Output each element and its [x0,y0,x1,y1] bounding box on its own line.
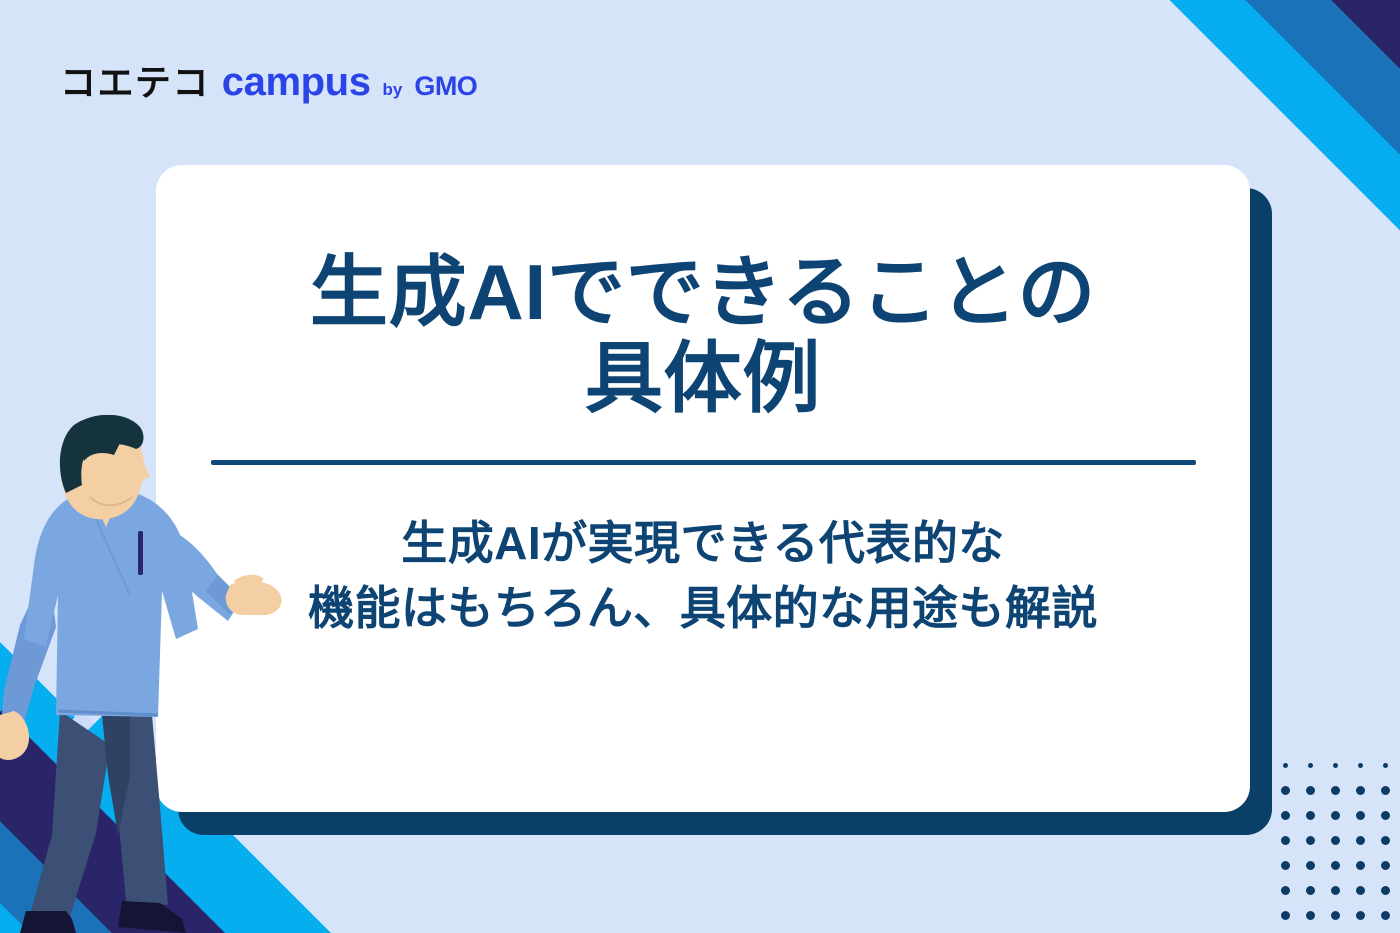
thumbnail-canvas: 生成AIでできることの 具体例 生成AIが実現できる代表的な 機能はもちろん、具… [0,0,1400,933]
subtitle-line-1: 生成AIが実現できる代表的な [196,511,1210,576]
dot-grid-dot [1331,861,1340,870]
dot-grid-dot [1281,811,1290,820]
dot-grid-dot [1356,811,1365,820]
dot-grid-dot [1306,786,1315,795]
dot-grid-dot [1306,861,1315,870]
title-line-2: 具体例 [196,336,1210,422]
dot-grid-dot [1331,911,1340,920]
dot-grid-dot [1333,763,1338,768]
brand-logo-gmo: GMO [414,73,477,100]
character-left-shoe [20,911,76,933]
dot-grid-dot [1281,911,1290,920]
dot-grid-dot [1306,911,1315,920]
dot-grid-dot [1356,886,1365,895]
dot-grid-dot [1356,861,1365,870]
dot-grid-dot [1306,886,1315,895]
brand-logo[interactable]: コエテコ campus by GMO [60,62,477,102]
dot-grid-dot [1283,763,1288,768]
dot-grid-dot [1356,836,1365,845]
dot-grid-dot [1281,786,1290,795]
dot-grid-dot [1331,786,1340,795]
dot-grid-dot [1383,763,1388,768]
character-pen-icon [138,531,143,575]
pointing-presenter-illustration [0,415,290,933]
dot-grid-dot [1331,836,1340,845]
character-shirt [24,491,198,717]
dot-grid-dot [1381,786,1390,795]
dot-grid-dot [1381,861,1390,870]
dot-grid-dot [1381,836,1390,845]
brand-logo-koeteco: コエテコ [60,65,210,101]
dot-grid-dot [1306,811,1315,820]
page-subtitle: 生成AIが実現できる代表的な 機能はもちろん、具体的な用途も解説 [196,511,1210,642]
brand-logo-campus: campus [222,62,371,102]
title-line-1: 生成AIでできることの [196,250,1210,336]
dot-grid-dot [1356,911,1365,920]
character-nose [138,455,150,481]
stripe-cyan-4 [1290,0,1400,418]
dot-grid-dot [1281,836,1290,845]
brand-logo-by: by [383,81,403,98]
dot-grid-dot [1308,763,1313,768]
dot-grid-dot [1381,911,1390,920]
stripe-pale-6 [1286,0,1400,397]
dot-grid-dot [1381,811,1390,820]
dot-grid-dot [1358,763,1363,768]
dot-grid-dot [1331,886,1340,895]
title-divider [211,460,1196,465]
character-left-leg [30,711,110,923]
character-right-shoe [118,901,186,933]
decorative-dot-grid [1285,765,1400,933]
dot-grid-dot [1331,811,1340,820]
dot-grid-dot [1306,836,1315,845]
subtitle-line-2: 機能はもちろん、具体的な用途も解説 [196,576,1210,641]
dot-grid-dot [1281,886,1290,895]
dot-grid-dot [1281,861,1290,870]
page-title: 生成AIでできることの 具体例 [196,250,1210,422]
dot-grid-dot [1356,786,1365,795]
content-card: 生成AIでできることの 具体例 生成AIが実現できる代表的な 機能はもちろん、具… [156,165,1250,812]
dot-grid-dot [1381,886,1390,895]
